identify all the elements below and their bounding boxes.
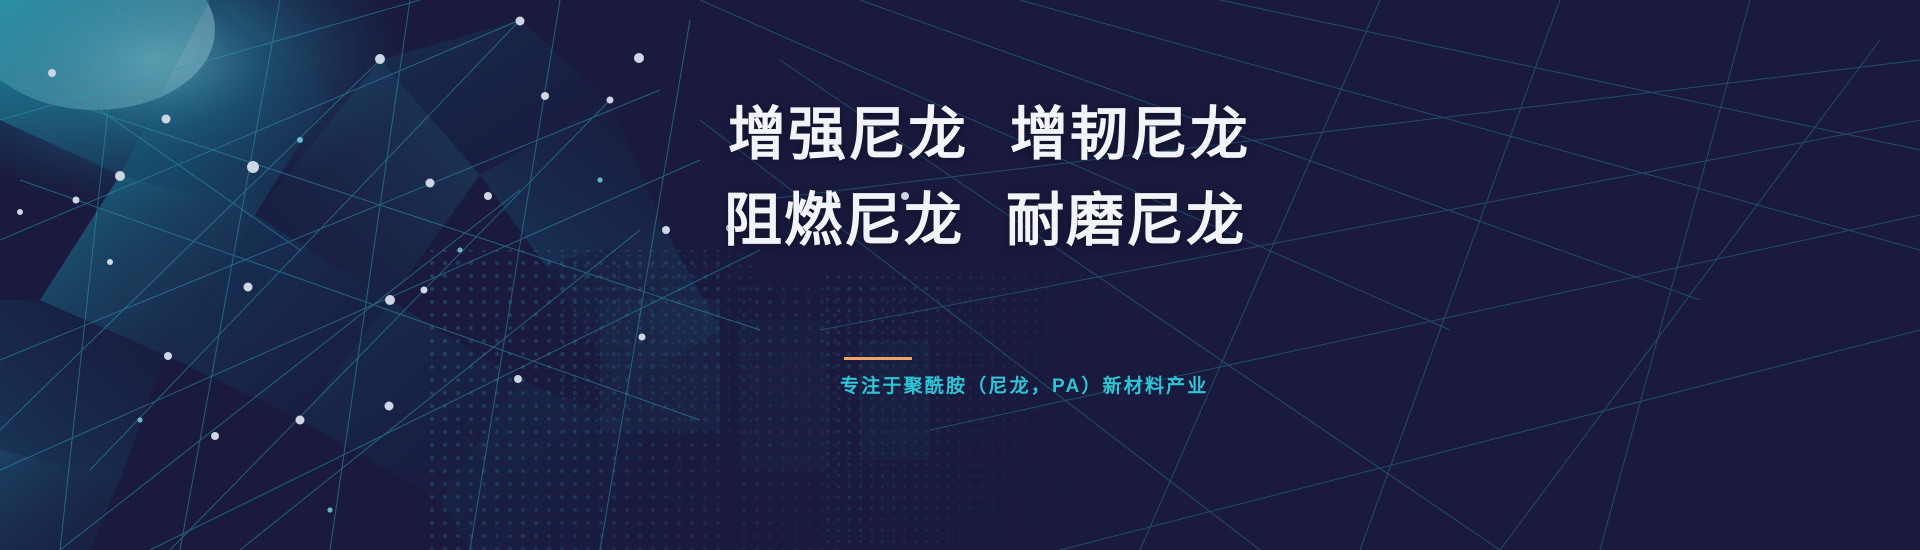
headline-line2-part2: 耐磨尼龙 <box>1006 188 1246 253</box>
tagline: 专注于聚酰胺（尼龙，PA）新材料产业 <box>840 371 1209 398</box>
headline-block: 增强尼龙增韧尼龙 阻燃尼龙耐磨尼龙 <box>728 92 1628 264</box>
headline-line1-part2: 增韧尼龙 <box>1010 102 1250 167</box>
accent-divider <box>844 357 912 360</box>
headline-line2-part1: 阻燃尼龙 <box>724 188 964 253</box>
banner-content: 增强尼龙增韧尼龙 阻燃尼龙耐磨尼龙 专注于聚酰胺（尼龙，PA）新材料产业 <box>728 0 1628 550</box>
headline-line-2: 阻燃尼龙耐磨尼龙 <box>724 178 1628 264</box>
headline-line-1: 增强尼龙增韧尼龙 <box>728 92 1628 178</box>
headline-line1-part1: 增强尼龙 <box>728 102 968 167</box>
hero-banner: 增强尼龙增韧尼龙 阻燃尼龙耐磨尼龙 专注于聚酰胺（尼龙，PA）新材料产业 <box>0 0 1920 550</box>
